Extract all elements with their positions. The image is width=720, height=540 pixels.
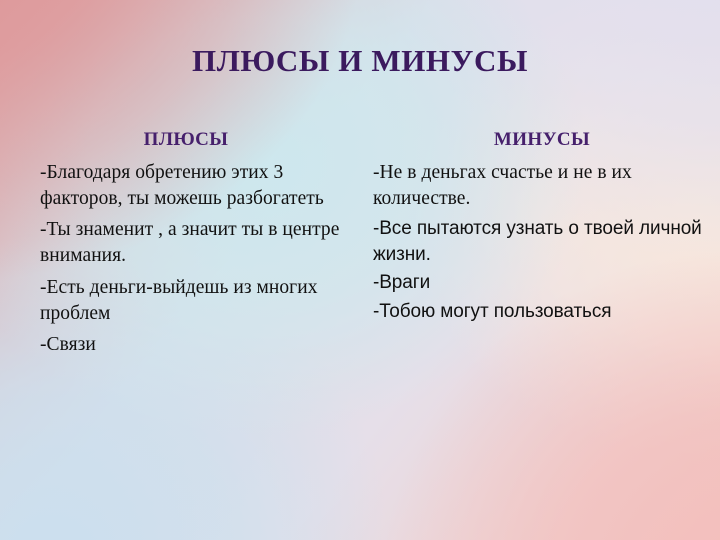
column-pluses: ПЛЮСЫ -Благодаря обретению этих 3 фактор…: [18, 130, 356, 364]
list-item: -Есть деньги-выйдешь из многих проблем: [40, 275, 356, 326]
list-item: -Все пытаются узнать о твоей личной жизн…: [373, 216, 708, 267]
list-item: -Враги: [373, 270, 708, 295]
bullet-list-pluses: -Благодаря обретению этих 3 факторов, ты…: [18, 160, 356, 358]
list-item: -Связи: [40, 332, 356, 358]
list-item: -Ты знаменит , а значит ты в центре вним…: [40, 217, 356, 268]
list-item: -Тобою могут пользоваться: [373, 299, 708, 324]
column-header-pluses: ПЛЮСЫ: [18, 130, 356, 151]
bullet-list-minuses: -Не в деньгах счастье и не в их количест…: [368, 160, 708, 324]
page-title: ПЛЮСЫ И МИНУСЫ: [0, 44, 720, 78]
column-header-minuses: МИНУСЫ: [368, 130, 708, 151]
list-item: -Благодаря обретению этих 3 факторов, ты…: [40, 160, 356, 211]
column-minuses: МИНУСЫ -Не в деньгах счастье и не в их к…: [368, 130, 708, 327]
slide-canvas: ПЛЮСЫ И МИНУСЫ ПЛЮСЫ -Благодаря обретени…: [0, 0, 720, 540]
list-item: -Не в деньгах счастье и не в их количест…: [373, 160, 708, 211]
